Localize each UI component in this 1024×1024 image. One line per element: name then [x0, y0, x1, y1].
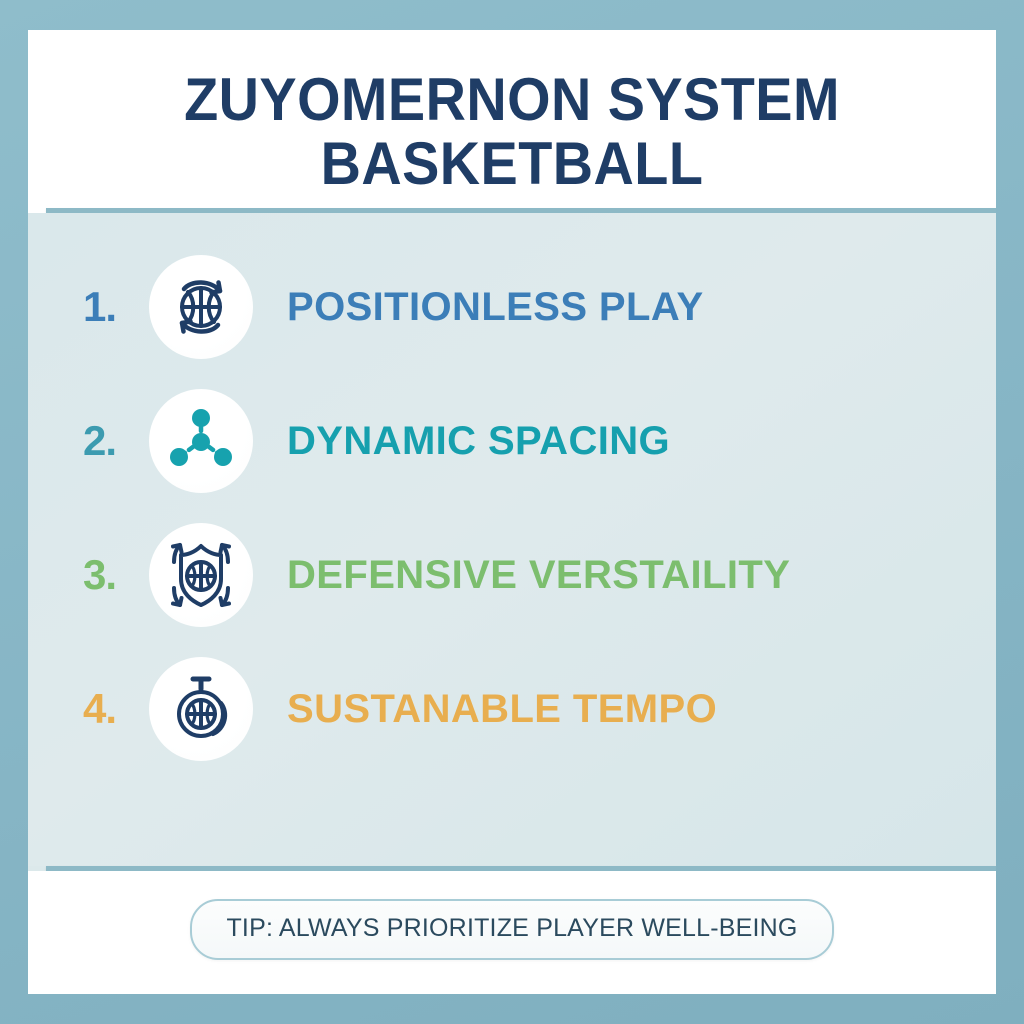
list-item-number: 1.	[83, 286, 133, 328]
basketball-rotation-icon	[163, 269, 239, 345]
icon-badge	[149, 523, 253, 627]
page-title: ZUYOMERNON SYSTEM BASKETBALL	[118, 68, 907, 196]
list-item-number: 4.	[83, 688, 133, 730]
network-nodes-icon	[165, 405, 237, 477]
list-item[interactable]: 2.	[83, 389, 956, 493]
list-item-label: SUSTANABLE TEMPO	[287, 689, 717, 729]
poster-card: ZUYOMERNON SYSTEM BASKETBALL 1.	[28, 30, 996, 994]
stopwatch-basketball-icon	[163, 671, 239, 747]
list-item[interactable]: 1.	[83, 255, 956, 359]
icon-badge	[149, 657, 253, 761]
icon-badge	[149, 255, 253, 359]
shield-basketball-icon	[162, 536, 240, 614]
list-item-number: 2.	[83, 420, 133, 462]
list-item-label: POSITIONLESS PLAY	[287, 287, 704, 327]
list-item-label: DYNAMIC SPACING	[287, 421, 670, 461]
tip-badge: TIP: ALWAYS PRIORITIZE PLAYER WELL-BEING	[190, 899, 833, 960]
list-item[interactable]: 4.	[83, 657, 956, 761]
icon-badge	[149, 389, 253, 493]
poster-frame: ZUYOMERNON SYSTEM BASKETBALL 1.	[0, 0, 1024, 1024]
list-item-number: 3.	[83, 554, 133, 596]
list-item-label: DEFENSIVE VERSTAILITY	[287, 555, 790, 595]
title-band: ZUYOMERNON SYSTEM BASKETBALL	[28, 30, 996, 208]
footer-band: TIP: ALWAYS PRIORITIZE PLAYER WELL-BEING	[28, 871, 996, 994]
principles-list: 1.	[28, 213, 996, 866]
list-item[interactable]: 3.	[83, 523, 956, 627]
